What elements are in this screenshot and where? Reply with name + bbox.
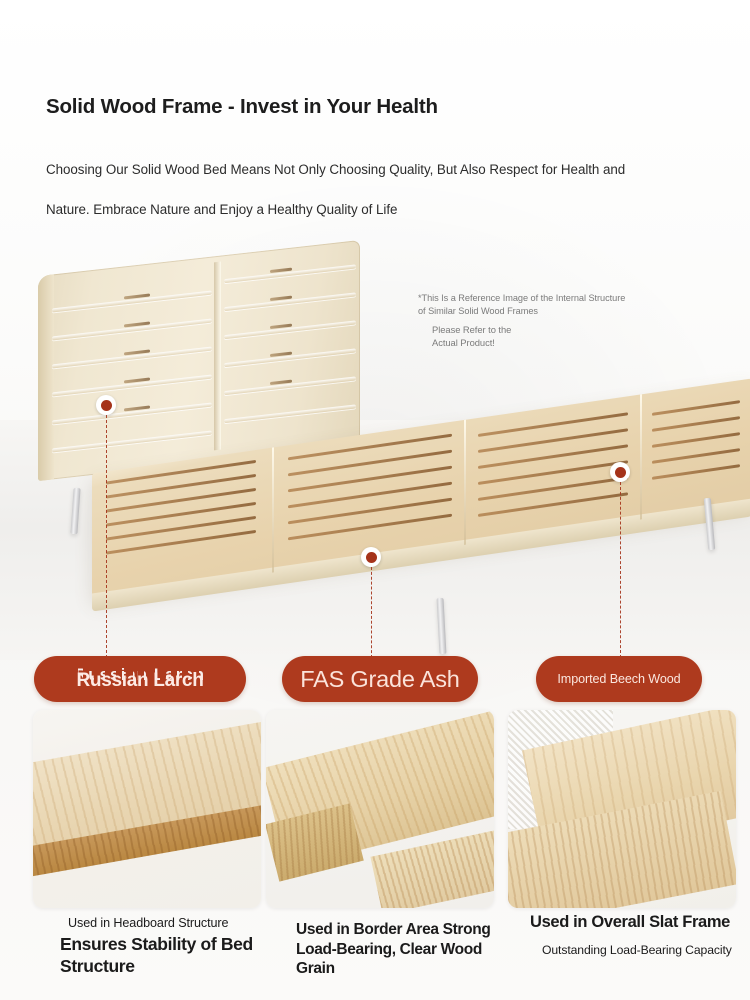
card-caption-pine: Used in Border Area Strong Load-Bearing,… bbox=[296, 920, 501, 979]
marker-inner-dot bbox=[366, 552, 377, 563]
badge-label: Imported Beech Wood bbox=[557, 672, 680, 686]
platform-seam bbox=[272, 447, 274, 572]
infographic-page: Solid Wood Frame - Invest in Your Health… bbox=[0, 0, 750, 1000]
subtitle-line-2: Nature. Embrace Nature and Enjoy a Healt… bbox=[46, 190, 750, 230]
headboard-center-split bbox=[214, 262, 221, 451]
badge-label: Russian Larch bbox=[34, 670, 246, 692]
pine-beam-photo bbox=[266, 710, 494, 908]
page-subtitle: Choosing Our Solid Wood Bed Means Not On… bbox=[46, 150, 750, 230]
badge-label: FAS Grade Ash bbox=[300, 666, 459, 693]
page-title: Solid Wood Frame - Invest in Your Health bbox=[46, 95, 438, 119]
marker-dot-border[interactable] bbox=[361, 547, 381, 567]
reference-note-line-3: Please Refer to the bbox=[432, 324, 625, 337]
caption-benefit: Ensures Stability of Bed Structure bbox=[60, 933, 270, 977]
badge-fas-grade-ash[interactable]: FAS Grade Ash bbox=[282, 656, 478, 702]
connector-line-border bbox=[371, 567, 372, 658]
platform-seam bbox=[640, 394, 642, 519]
reference-note-line-2: of Similar Solid Wood Frames bbox=[418, 305, 625, 318]
marker-dot-headboard[interactable] bbox=[96, 395, 116, 415]
marker-dot-slat[interactable] bbox=[610, 462, 630, 482]
material-card-ash[interactable] bbox=[33, 710, 261, 908]
marker-inner-dot bbox=[615, 467, 626, 478]
badge-imported-beech-wood[interactable]: Imported Beech Wood bbox=[536, 656, 702, 702]
reference-note-line-1: *This Is a Reference Image of the Intern… bbox=[418, 292, 625, 305]
beech-board-photo bbox=[508, 710, 736, 908]
caption-benefit: Outstanding Load-Bearing Capacity bbox=[542, 942, 747, 958]
connector-line-headboard bbox=[106, 415, 107, 658]
material-card-pine[interactable] bbox=[266, 710, 494, 908]
caption-usage: Used in Overall Slat Frame bbox=[530, 912, 730, 932]
subtitle-line-1: Choosing Our Solid Wood Bed Means Not On… bbox=[46, 162, 625, 177]
marker-inner-dot bbox=[101, 400, 112, 411]
reference-note: *This Is a Reference Image of the Intern… bbox=[418, 292, 625, 349]
caption-benefit: Used in Border Area Strong Load-Bearing,… bbox=[296, 920, 501, 979]
bed-illustration bbox=[0, 240, 750, 660]
connector-line-slat bbox=[620, 482, 621, 658]
material-card-beech[interactable] bbox=[508, 710, 736, 908]
caption-usage: Used in Headboard Structure bbox=[68, 915, 258, 931]
reference-note-line-4: Actual Product! bbox=[432, 337, 625, 350]
platform-seam bbox=[464, 420, 466, 545]
ash-plank-photo bbox=[33, 710, 261, 908]
badge-russian-larch[interactable]: Russian Larch Russian Larch bbox=[34, 656, 246, 702]
